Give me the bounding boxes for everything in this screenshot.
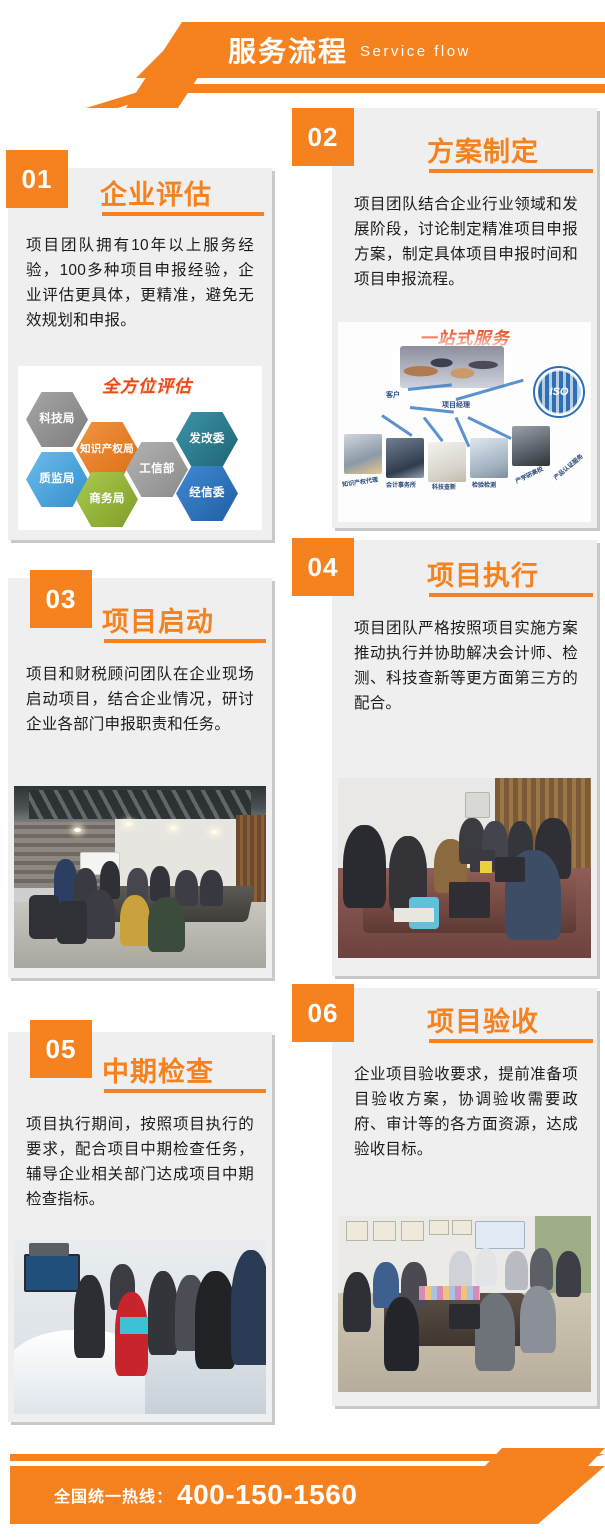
title-underline-01 [102,212,264,216]
step-card-06[interactable]: 06 项目验收 企业项目验收要求，提前准备项目验收方案，协调验收需要政府、审计等… [332,988,597,1406]
flow-arrow [467,416,511,440]
step-body-03: 项目和财税顾问团队在企业现场启动项目，结合企业情况，研讨企业各部门申报职责和任务… [26,662,254,737]
working-session-photo [338,778,591,958]
certification-seal-icon: ISO [533,366,585,418]
service-thumb-novelty [428,442,466,482]
page-header: 服务流程 Service flow [0,0,605,108]
step-card-03[interactable]: 03 项目启动 项目和财税顾问团队在企业现场启动项目，结合企业情况，研讨企业各部… [8,578,272,978]
title-underline-04 [429,593,593,597]
flow-arrow [381,414,413,437]
service-thumb-testing [470,438,508,478]
service-label-accounting: 会计事务所 [386,480,416,489]
service-thumb-university [512,426,550,466]
step-badge-04: 04 [292,538,354,596]
page-footer: 全国统一热线： 400-150-1560 [0,1428,605,1538]
title-underline-03 [104,639,266,643]
hotline-label: 全国统一热线： [54,1483,173,1507]
one-stop-service-diagram: 一站式服务 客户 项目经理 ISO 知识产权代理 会计事务所 科技查新 检验检测… [338,322,591,522]
step-body-05: 项目执行期间，按照项目执行的要求，配合项目中期检查任务，辅导企业相关部门达成项目… [26,1112,254,1212]
hexagon-assessment-chart: 全方位评估 科技局 知识产权局 质监局 工信部 商务局 发改委 经信委 [18,366,262,530]
acceptance-meeting-photo [338,1216,591,1392]
node-kehu: 客户 [386,390,400,400]
step-title-01: 企业评估 [100,173,212,212]
step-card-04[interactable]: 04 项目执行 项目团队严格按照项目实施方案推动执行并协助解决会计师、检测、科技… [332,540,597,976]
page-title-en: Service flow [360,30,471,74]
hotline-phone-number[interactable]: 400-150-1560 [177,1479,357,1511]
title-underline-05 [104,1089,266,1093]
node-xiangmu-jingli: 项目经理 [442,400,470,410]
step-card-05[interactable]: 05 中期检查 项目执行期间，按照项目执行的要求，配合项目中期检查任务，辅导企业… [8,1032,272,1422]
service-label-certification: 产品认证服务 [551,451,584,481]
step-title-05: 中期检查 [102,1050,214,1089]
step-badge-02: 02 [292,108,354,166]
step-badge-01: 01 [6,150,68,208]
service-label-university: 产学研高校 [514,464,545,485]
site-visit-photo [14,1240,266,1414]
service-label-novelty: 科技查新 [432,482,456,491]
step-body-02: 项目团队结合企业行业领域和发展阶段，讨论制定精准项目申报方案，制定具体项目申报时… [354,192,578,292]
hotline-block[interactable]: 全国统一热线： 400-150-1560 [54,1466,357,1524]
service-label-ip: 知识产权代理 [342,475,379,489]
service-flow-infographic: 服务流程 Service flow 01 企业评估 项目团队拥有10年以上服务经… [0,0,605,1538]
conference-room-meeting-photo [14,786,266,968]
hexagon-chart-title: 全方位评估 [102,372,192,397]
step-badge-05: 05 [30,1020,92,1078]
service-thumb-accounting [386,438,424,478]
step-card-02[interactable]: 02 方案制定 项目团队结合企业行业领域和发展阶段，讨论制定精准项目申报方案，制… [332,108,597,528]
step-card-01[interactable]: 01 企业评估 项目团队拥有10年以上服务经验，100多种项目申报经验，企业评估… [8,168,272,540]
step-badge-03: 03 [30,570,92,628]
service-label-testing: 检验检测 [472,480,496,489]
meeting-photo-thumb [400,346,504,388]
step-title-03: 项目启动 [102,600,214,639]
page-title: 服务流程 Service flow [228,30,471,74]
step-title-02: 方案制定 [427,130,539,169]
step-title-04: 项目执行 [427,554,539,593]
service-thumb-ip [344,434,382,474]
title-underline-02 [429,169,593,173]
step-badge-06: 06 [292,984,354,1042]
title-underline-06 [429,1039,593,1043]
step-title-06: 项目验收 [427,1000,539,1039]
flow-arrow [423,417,444,442]
page-title-cn: 服务流程 [228,30,348,74]
step-body-04: 项目团队严格按照项目实施方案推动执行并协助解决会计师、检测、科技查新等更方面第三… [354,616,578,716]
step-body-01: 项目团队拥有10年以上服务经验，100多种项目申报经验，企业评估更具体，更精准，… [26,233,254,333]
step-body-06: 企业项目验收要求，提前准备项目验收方案，协调验收需要政府、审计等的各方面资源，达… [354,1062,578,1162]
hexagon-node-fagai-wei: 发改委 [176,412,238,467]
header-banner-underline [150,84,605,93]
hexagon-node-keji-ju: 科技局 [26,392,88,447]
